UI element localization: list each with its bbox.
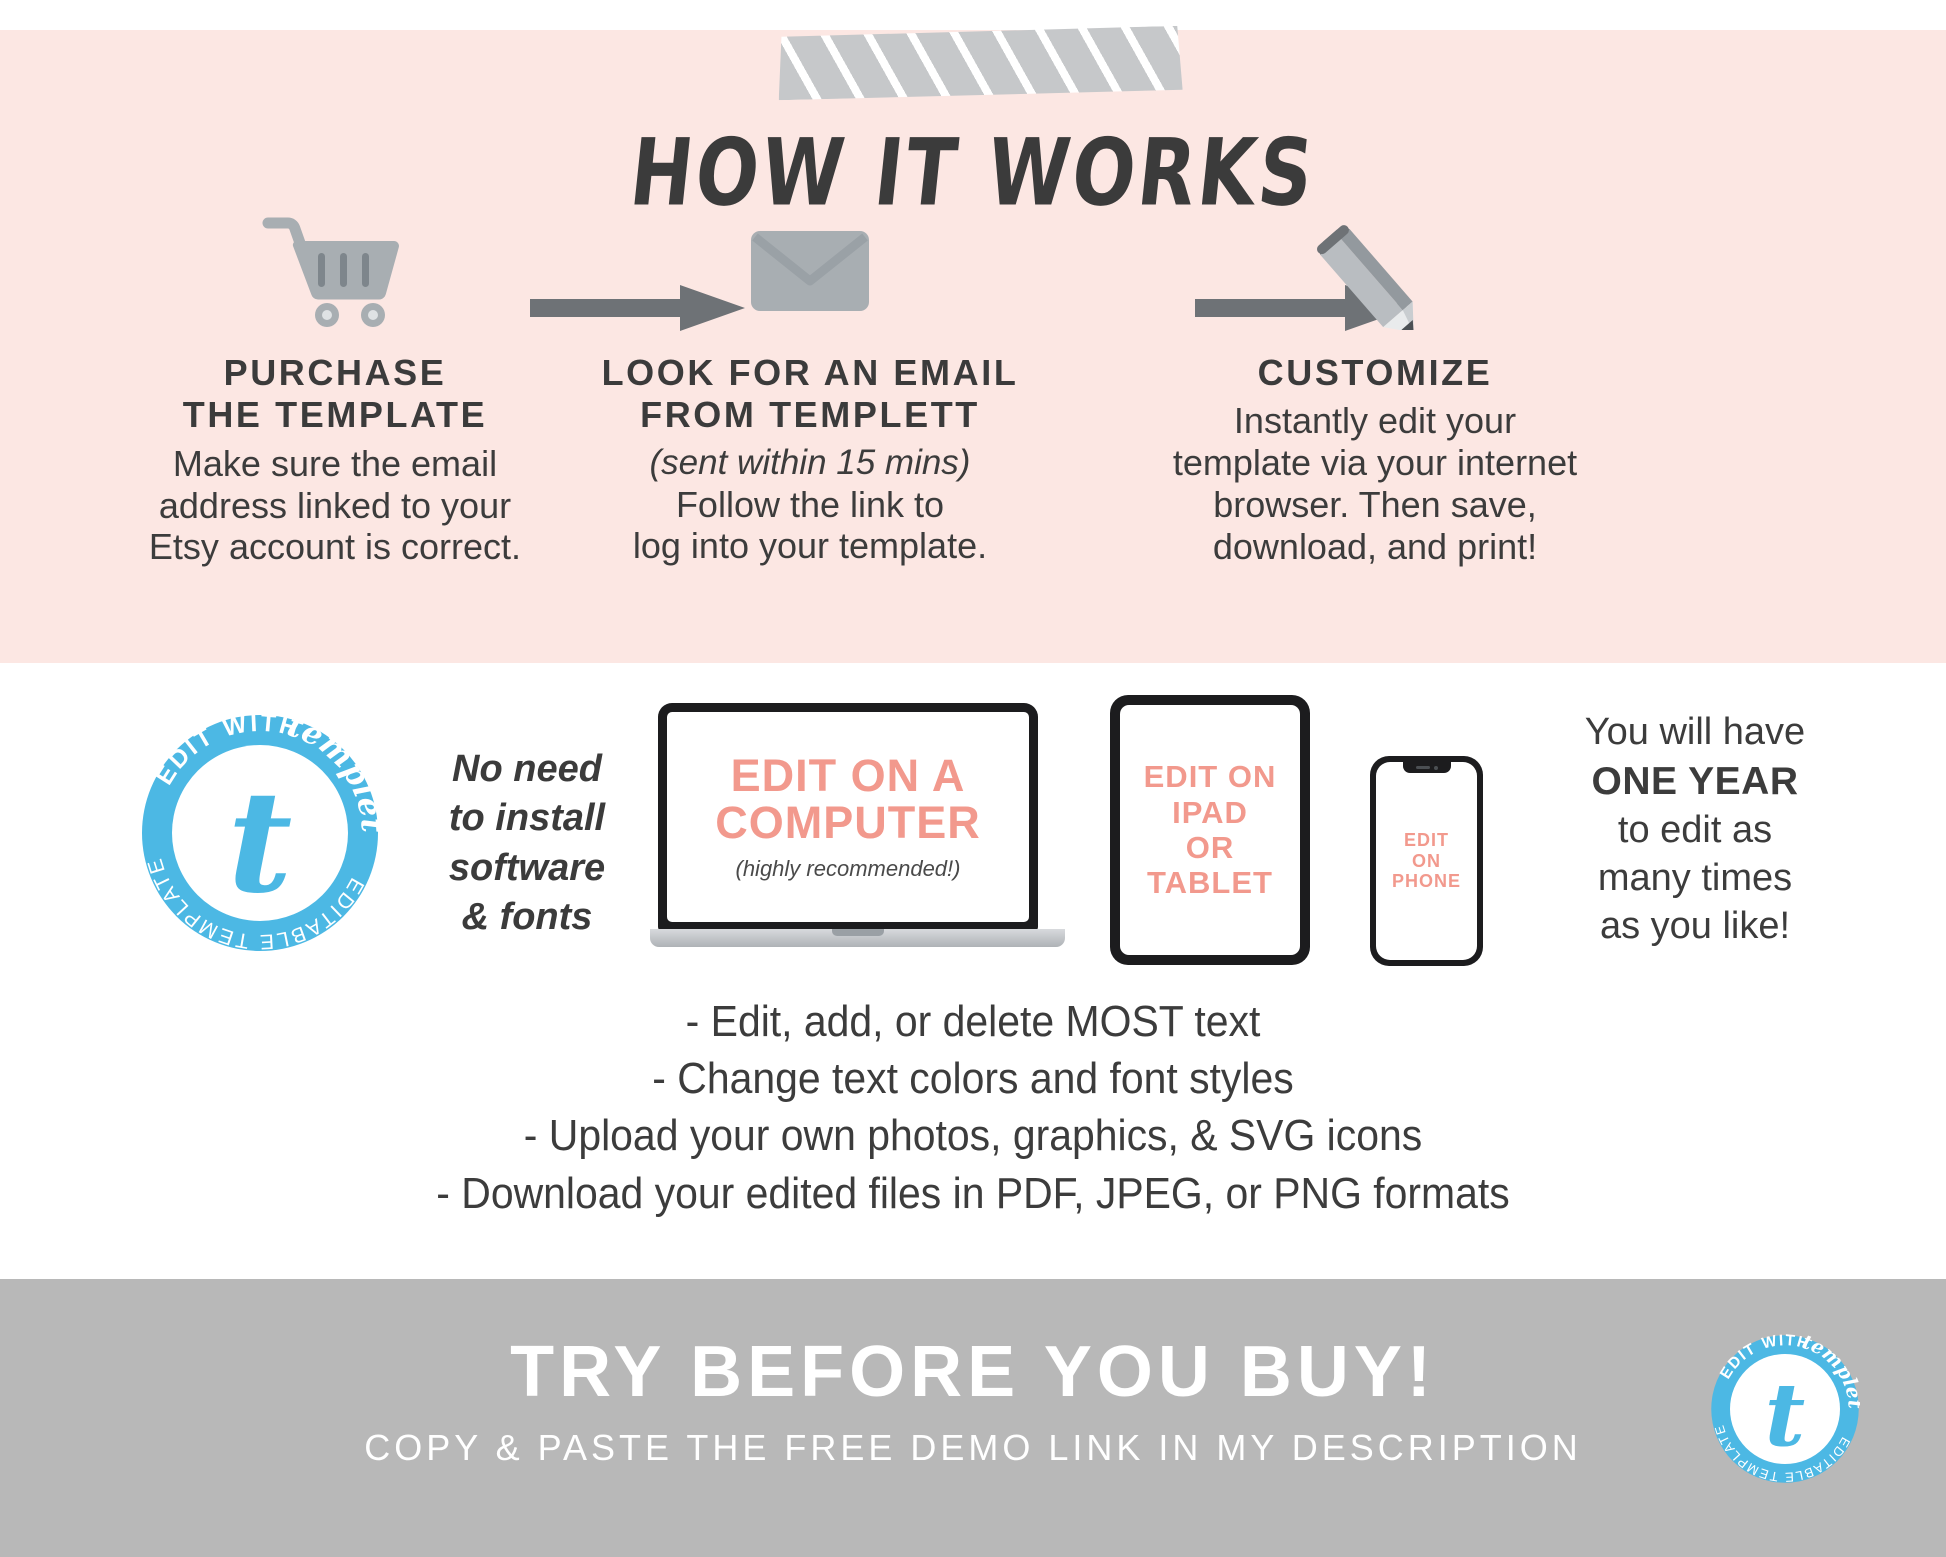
tablet-text-line: OR [1144,830,1277,865]
tablet-text-line: TABLET [1144,865,1277,900]
templett-badge: EDIT WITH templett EDITABLE TEMPLATE t [140,713,380,953]
laptop-mockup: EDIT ON A COMPUTER (highly recommended!) [650,703,1065,973]
laptop-screen: EDIT ON A COMPUTER (highly recommended!) [658,703,1038,931]
phone-screen: EDIT ON PHONE [1376,762,1477,960]
no-need-line: to install [432,794,622,843]
page-title: HOW IT WORKS [0,119,1946,227]
laptop-text-line: EDIT ON A [715,752,981,799]
phone-speaker-icon [1416,766,1430,769]
step-look-for-email: LOOK FOR AN EMAIL FROM TEMPLETT (sent wi… [560,215,1060,567]
step-title-line: LOOK FOR AN EMAIL [560,352,1060,394]
feature-item: - Edit, add, or delete MOST text [68,993,1878,1050]
step-body: Make sure the email address linked to yo… [95,443,575,568]
laptop-subtext: (highly recommended!) [736,856,961,882]
step-title: LOOK FOR AN EMAIL FROM TEMPLETT [560,352,1060,437]
one-year-highlight: ONE YEAR [1592,760,1799,803]
one-year-line: to edit as [1500,807,1890,855]
step-body-line: Follow the link to [560,484,1060,526]
step-body-line: Instantly edit your [1110,400,1640,442]
laptop-trackpad-notch [832,929,884,936]
banner-subtitle: COPY & PASTE THE FREE DEMO LINK IN MY DE… [0,1427,1946,1469]
step-note: (sent within 15 mins) [560,443,1060,484]
one-year-line: many times [1500,855,1890,903]
tablet-text-block: EDIT ON IPAD OR TABLET [1144,759,1277,900]
phone-text-block: EDIT ON PHONE [1392,830,1461,892]
phone-text-line: ON [1392,851,1461,872]
try-before-you-buy-banner: TRY BEFORE YOU BUY! COPY & PASTE THE FRE… [0,1279,1946,1557]
templett-badge-footer: EDIT WITH templett EDITABLE TEMPLATE t [1710,1334,1860,1484]
feature-item: - Download your edited files in PDF, JPE… [68,1165,1878,1222]
step-title-line: THE TEMPLATE [95,394,575,436]
step-body-line: Make sure the email [95,443,575,485]
shopping-cart-icon [95,215,575,330]
pencil-icon [1110,215,1640,330]
phone-mockup: EDIT ON PHONE [1370,756,1483,966]
step-body: (sent within 15 mins) Follow the link to… [560,443,1060,567]
how-it-works-section: HOW IT WORKS PURCHASE THE TEMPLATE Make … [0,30,1946,663]
laptop-text-block: EDIT ON A COMPUTER [715,752,981,847]
step-title: PURCHASE THE TEMPLATE [95,352,575,437]
step-customize: CUSTOMIZE Instantly edit your template v… [1110,215,1640,567]
one-year-text-block: You will have ONE YEAR to edit as many t… [1500,709,1890,950]
envelope-icon [560,215,1060,330]
badge-monogram: t [1765,1363,1805,1466]
phone-text-line: PHONE [1392,871,1461,892]
step-title-line: CUSTOMIZE [1110,352,1640,394]
step-body-line: template via your internet [1110,442,1640,484]
banner-title: TRY BEFORE YOU BUY! [0,1331,1946,1413]
tablet-text-line: EDIT ON [1144,759,1277,794]
laptop-screen-content: EDIT ON A COMPUTER (highly recommended!) [667,712,1029,922]
step-body-line: address linked to your [95,485,575,527]
phone-camera-icon [1434,766,1438,770]
no-need-line: No need [432,745,622,794]
tablet-mockup: EDIT ON IPAD OR TABLET [1110,695,1310,965]
step-body-line: download, and print! [1110,526,1640,568]
tablet-screen: EDIT ON IPAD OR TABLET [1120,705,1300,955]
step-body-line: Etsy account is correct. [95,526,575,568]
step-title: CUSTOMIZE [1110,352,1640,394]
devices-and-features-section: EDIT WITH templett EDITABLE TEMPLATE t N… [0,663,1946,1279]
feature-list: - Edit, add, or delete MOST text - Chang… [0,993,1946,1222]
step-title-line: FROM TEMPLETT [560,394,1060,436]
phone-text-line: EDIT [1392,830,1461,851]
one-year-line: as you like! [1500,903,1890,951]
no-need-line: software [432,844,622,893]
one-year-line: You will have [1500,709,1890,757]
feature-item: - Upload your own photos, graphics, & SV… [68,1107,1878,1164]
step-body-line: browser. Then save, [1110,484,1640,526]
washi-tape-icon [777,26,1182,100]
step-title-line: PURCHASE [95,352,575,394]
phone-notch [1403,762,1451,773]
tablet-text-line: IPAD [1144,795,1277,830]
badge-monogram: t [228,761,293,925]
step-purchase: PURCHASE THE TEMPLATE Make sure the emai… [95,215,575,568]
feature-item: - Change text colors and font styles [68,1050,1878,1107]
no-need-text-block: No need to install software & fonts [432,745,622,943]
laptop-text-line: COMPUTER [715,799,981,846]
step-body: Instantly edit your template via your in… [1110,400,1640,567]
no-need-line: & fonts [432,893,622,942]
step-body-line: log into your template. [560,525,1060,567]
